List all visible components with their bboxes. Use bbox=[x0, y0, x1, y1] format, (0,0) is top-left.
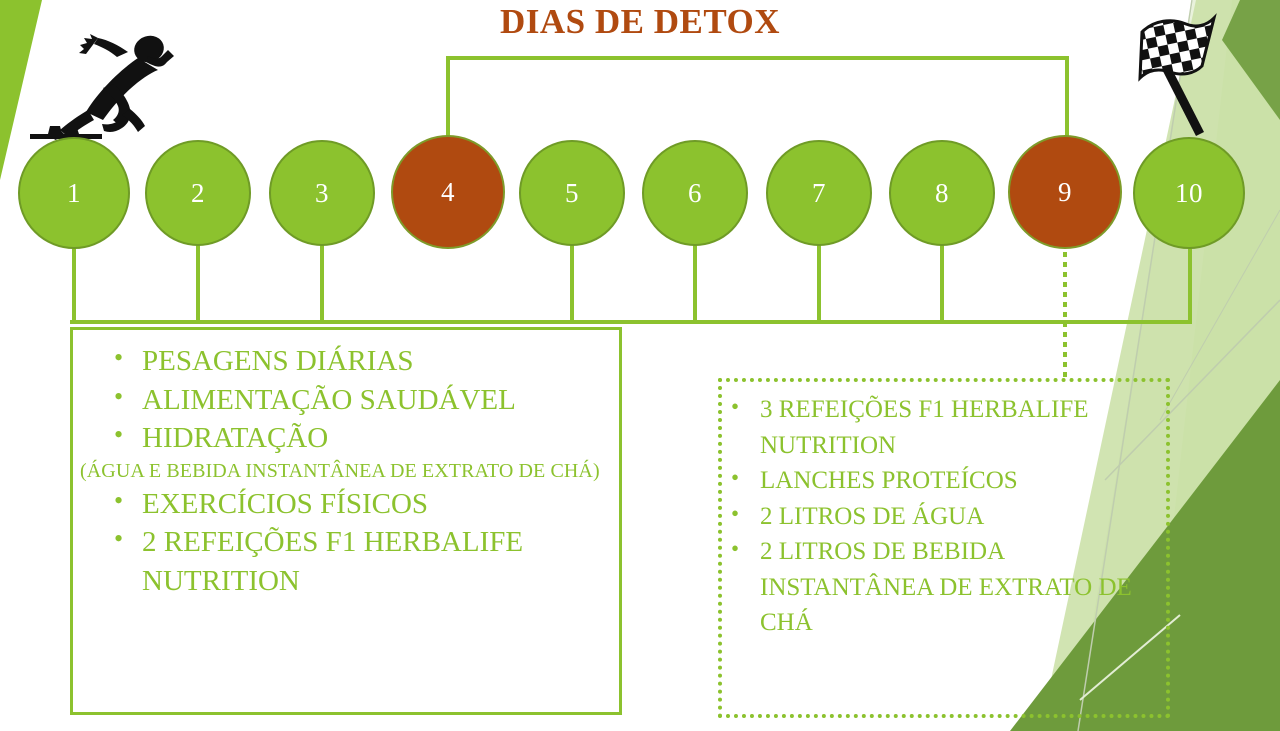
nutrition-list: 3 REFEIÇÕES F1 HERBALIFE NUTRITIONLANCHE… bbox=[725, 392, 1155, 641]
timeline-day-6[interactable]: 6 bbox=[642, 140, 748, 246]
lower-rail bbox=[70, 320, 1192, 324]
timeline-day-label: 8 bbox=[935, 180, 949, 207]
timeline-day-label: 5 bbox=[565, 180, 579, 207]
timeline-day-7[interactable]: 7 bbox=[766, 140, 872, 246]
stem-day-2 bbox=[196, 240, 200, 324]
stem-day-6 bbox=[693, 240, 697, 324]
timeline-day-1[interactable]: 1 bbox=[18, 137, 130, 249]
routine-item: 2 REFEIÇÕES F1 HERBALIFE NUTRITION bbox=[100, 523, 610, 600]
nutrition-item: 2 LITROS DE BEBIDA INSTANTÂNEA DE EXTRAT… bbox=[725, 534, 1155, 641]
stem-day-5 bbox=[570, 240, 574, 324]
timeline-day-label: 9 bbox=[1058, 179, 1072, 206]
slide-canvas: DIAS DE DETOX bbox=[0, 0, 1280, 731]
routine-item: HIDRATAÇÃO bbox=[100, 419, 610, 458]
nutrition-item: LANCHES PROTEÍCOS bbox=[725, 463, 1155, 499]
nutrition-item: 3 REFEIÇÕES F1 HERBALIFE NUTRITION bbox=[725, 392, 1155, 463]
timeline-day-label: 2 bbox=[191, 180, 205, 207]
routine-item: ALIMENTAÇÃO SAUDÁVEL bbox=[100, 381, 610, 420]
timeline-day-5[interactable]: 5 bbox=[519, 140, 625, 246]
dotted-connector-day-9 bbox=[1063, 242, 1067, 380]
stem-day-7 bbox=[817, 240, 821, 324]
timeline-day-9[interactable]: 9 bbox=[1008, 135, 1122, 249]
timeline-day-2[interactable]: 2 bbox=[145, 140, 251, 246]
runner-icon bbox=[18, 14, 198, 144]
routine-item: PESAGENS DIÁRIAS bbox=[100, 342, 610, 381]
timeline-day-label: 7 bbox=[812, 180, 826, 207]
timeline-day-4[interactable]: 4 bbox=[391, 135, 505, 249]
timeline-day-10[interactable]: 10 bbox=[1133, 137, 1245, 249]
stem-day-10 bbox=[1188, 240, 1192, 324]
bracket-top-rail bbox=[446, 56, 1069, 60]
nutrition-item: 2 LITROS DE ÁGUA bbox=[725, 499, 1155, 535]
timeline-day-3[interactable]: 3 bbox=[269, 140, 375, 246]
timeline-day-label: 10 bbox=[1175, 180, 1203, 207]
timeline-day-8[interactable]: 8 bbox=[889, 140, 995, 246]
timeline-day-label: 4 bbox=[441, 179, 455, 206]
routine-item: EXERCÍCIOS FÍSICOS bbox=[100, 485, 610, 524]
stem-day-3 bbox=[320, 240, 324, 324]
timeline-day-label: 3 bbox=[315, 180, 329, 207]
routine-note: (ÁGUA E BEBIDA INSTANTÂNEA DE EXTRATO DE… bbox=[80, 458, 610, 485]
timeline-day-label: 1 bbox=[67, 180, 81, 207]
timeline-day-label: 6 bbox=[688, 180, 702, 207]
stem-day-1 bbox=[72, 240, 76, 324]
stem-day-8 bbox=[940, 240, 944, 324]
checkered-flag-icon bbox=[1118, 4, 1238, 144]
daily-routine-list: PESAGENS DIÁRIASALIMENTAÇÃO SAUDÁVELHIDR… bbox=[100, 342, 610, 600]
